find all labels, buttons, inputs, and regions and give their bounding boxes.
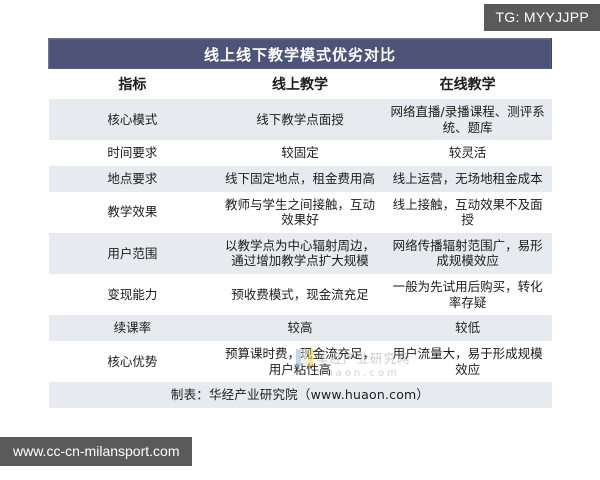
- row-metric: 地点要求: [49, 166, 217, 192]
- table-row: 教学效果 教师与学生之间接触，互动效果好 线上接触，互动效果不及面授: [49, 192, 552, 233]
- row-online: 线上接触，互动效果不及面授: [384, 192, 552, 233]
- row-online: 线上运营，无场地租金成本: [384, 166, 552, 192]
- table-row: 变现能力 预收费模式，现金流充足 一般为先试用后购买，转化率存疑: [49, 274, 552, 315]
- table-title: 线上线下教学模式优劣对比: [49, 39, 552, 70]
- column-header-online: 在线教学: [384, 69, 552, 99]
- table-title-row: 线上线下教学模式优劣对比: [49, 39, 552, 70]
- row-metric: 变现能力: [49, 274, 217, 315]
- row-offline: 较固定: [216, 140, 384, 166]
- row-offline: 预收费模式，现金流充足: [216, 274, 384, 315]
- table-row: 地点要求 线下固定地点，租金费用高 线上运营，无场地租金成本: [49, 166, 552, 192]
- row-online: 网络传播辐射范围广，易形成规模效应: [384, 233, 552, 274]
- row-online: 网络直播/录播课程、测评系统、题库: [384, 99, 552, 140]
- comparison-table: 线上线下教学模式优劣对比 指标 线上教学 在线教学 核心模式 线下教学点面授 网…: [48, 38, 552, 408]
- row-online: 较灵活: [384, 140, 552, 166]
- row-offline: 预算课时费，现金流充足，用户粘性高: [216, 341, 384, 382]
- row-offline: 线下教学点面授: [216, 99, 384, 140]
- row-metric: 续课率: [49, 315, 217, 341]
- table-source: 制表：华经产业研究院（www.huaon.com）: [49, 382, 552, 408]
- row-online: 用户流量大，易于形成规模效应: [384, 341, 552, 382]
- column-header-offline: 线上教学: [216, 69, 384, 99]
- row-offline: 较高: [216, 315, 384, 341]
- row-online: 一般为先试用后购买，转化率存疑: [384, 274, 552, 315]
- row-online: 较低: [384, 315, 552, 341]
- table-column-header-row: 指标 线上教学 在线教学: [49, 69, 552, 99]
- row-metric: 核心优势: [49, 341, 217, 382]
- table-row: 用户范围 以教学点为中心辐射周边，通过增加教学点扩大规模 网络传播辐射范围广，易…: [49, 233, 552, 274]
- table-row: 续课率 较高 较低: [49, 315, 552, 341]
- row-metric: 核心模式: [49, 99, 217, 140]
- column-header-metric: 指标: [49, 69, 217, 99]
- table-row: 核心模式 线下教学点面授 网络直播/录播课程、测评系统、题库: [49, 99, 552, 140]
- table-row: 时间要求 较固定 较灵活: [49, 140, 552, 166]
- row-offline: 以教学点为中心辐射周边，通过增加教学点扩大规模: [216, 233, 384, 274]
- row-offline: 教师与学生之间接触，互动效果好: [216, 192, 384, 233]
- table-body: 核心模式 线下教学点面授 网络直播/录播课程、测评系统、题库 时间要求 较固定 …: [49, 99, 552, 408]
- table-row: 核心优势 预算课时费，现金流充足，用户粘性高 用户流量大，易于形成规模效应: [49, 341, 552, 382]
- site-badge: www.cc-cn-milansport.com: [0, 437, 192, 466]
- table-source-row: 制表：华经产业研究院（www.huaon.com）: [49, 382, 552, 408]
- row-offline: 线下固定地点，租金费用高: [216, 166, 384, 192]
- row-metric: 用户范围: [49, 233, 217, 274]
- row-metric: 时间要求: [49, 140, 217, 166]
- comparison-table-container: 线上线下教学模式优劣对比 指标 线上教学 在线教学 核心模式 线下教学点面授 网…: [48, 38, 552, 408]
- tg-badge: TG: MYYJJPP: [484, 4, 600, 31]
- row-metric: 教学效果: [49, 192, 217, 233]
- table-head: 线上线下教学模式优劣对比 指标 线上教学 在线教学: [49, 39, 552, 100]
